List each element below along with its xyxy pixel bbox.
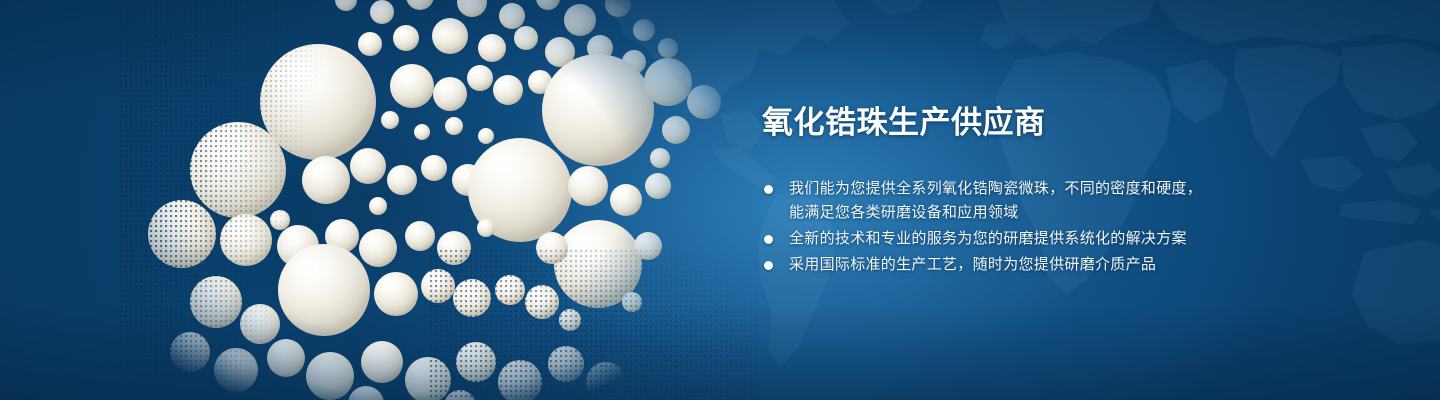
banner-bullet-list: 我们能为您提供全系列氧化锆陶瓷微珠，不同的密度和硬度， 能满足您各类研磨设备和应… — [762, 177, 1322, 277]
bullet-item-2-text: 全新的技术和专业的服务为您的研磨提供系统化的解决方案 — [789, 227, 1187, 251]
bullet-item-1-text: 我们能为您提供全系列氧化锆陶瓷微珠，不同的密度和硬度， 能满足您各类研磨设备和应… — [789, 177, 1202, 225]
bullet-item-3-line-1: 采用国际标准的生产工艺，随时为您提供研磨介质产品 — [789, 253, 1156, 277]
bullet-item-2-line-1: 全新的技术和专业的服务为您的研磨提供系统化的解决方案 — [789, 227, 1187, 251]
banner-headline: 氧化锆珠生产供应商 — [762, 104, 1322, 143]
dot-bullet-icon — [764, 185, 773, 194]
bullet-item-3-text: 采用国际标准的生产工艺，随时为您提供研磨介质产品 — [789, 253, 1156, 277]
bullet-item-1: 我们能为您提供全系列氧化锆陶瓷微珠，不同的密度和硬度， 能满足您各类研磨设备和应… — [762, 177, 1322, 225]
bullet-item-2: 全新的技术和专业的服务为您的研磨提供系统化的解决方案 — [762, 227, 1322, 251]
bullet-item-3: 采用国际标准的生产工艺，随时为您提供研磨介质产品 — [762, 253, 1322, 277]
dot-bullet-icon — [764, 261, 773, 270]
hero-banner: 氧化锆珠生产供应商 我们能为您提供全系列氧化锆陶瓷微珠，不同的密度和硬度， 能满… — [0, 0, 1440, 400]
banner-text-block: 氧化锆珠生产供应商 我们能为您提供全系列氧化锆陶瓷微珠，不同的密度和硬度， 能满… — [762, 104, 1322, 279]
dot-bullet-icon — [764, 235, 773, 244]
bullet-item-1-line-2: 能满足您各类研磨设备和应用领域 — [789, 201, 1202, 225]
bullet-item-1-line-1: 我们能为您提供全系列氧化锆陶瓷微珠，不同的密度和硬度， — [789, 177, 1202, 201]
